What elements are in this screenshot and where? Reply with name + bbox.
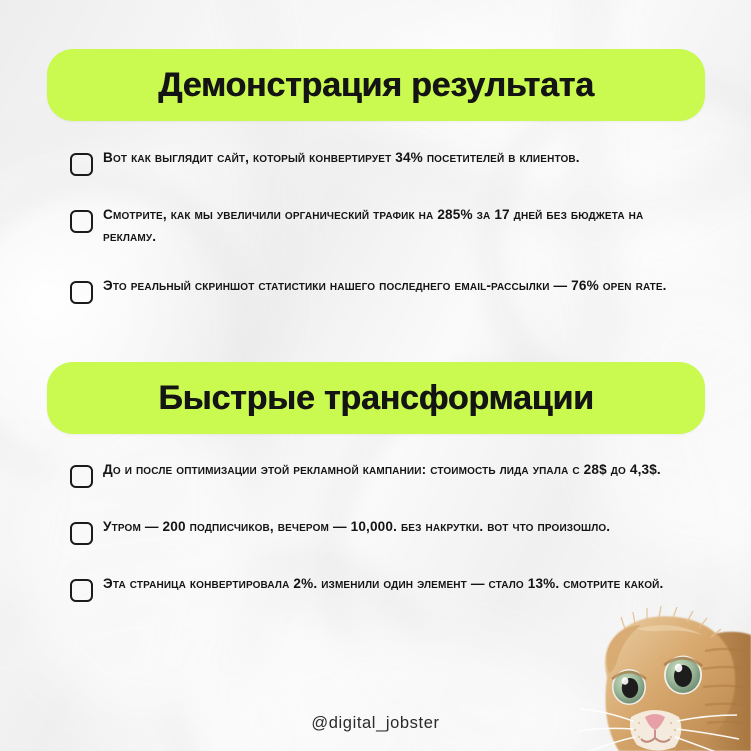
checkbox-icon[interactable]	[70, 579, 93, 602]
checkbox-icon[interactable]	[70, 522, 93, 545]
section-header-title: Демонстрация результата	[158, 68, 594, 102]
list-item-label: Утром — 200 подписчиков, вечером — 10,00…	[103, 515, 700, 538]
account-handle[interactable]: @digital_jobster	[0, 714, 751, 733]
list-item[interactable]: Эта страница конвертировала 2%. Изменили…	[70, 572, 700, 602]
checkbox-icon[interactable]	[70, 465, 93, 488]
list-item-label: Смотрите, как мы увеличили органический …	[103, 203, 700, 247]
checklist-demonstration: Вот как выглядит сайт, который конвертир…	[70, 146, 700, 304]
checkbox-icon[interactable]	[70, 210, 93, 233]
list-item[interactable]: Смотрите, как мы увеличили органический …	[70, 203, 700, 247]
checkbox-icon[interactable]	[70, 281, 93, 304]
list-item[interactable]: Это реальный скриншот статистики нашего …	[70, 274, 700, 304]
checklist-fast-transformations: До и после оптимизации этой рекламной ка…	[70, 458, 700, 602]
list-item-label: Это реальный скриншот статистики нашего …	[103, 274, 700, 297]
list-item[interactable]: Вот как выглядит сайт, который конвертир…	[70, 146, 700, 176]
list-item[interactable]: Утром — 200 подписчиков, вечером — 10,00…	[70, 515, 700, 545]
checkbox-icon[interactable]	[70, 153, 93, 176]
list-item[interactable]: До и после оптимизации этой рекламной ка…	[70, 458, 700, 488]
section-header-title: Быстрые трансформации	[158, 381, 593, 415]
section-header-pill-demonstration: Демонстрация результата	[47, 49, 705, 121]
list-item-label: До и после оптимизации этой рекламной ка…	[103, 458, 700, 481]
list-item-label: Вот как выглядит сайт, который конвертир…	[103, 146, 700, 169]
poster-canvas: Демонстрация результата Вот как выглядит…	[0, 0, 751, 751]
list-item-label: Эта страница конвертировала 2%. Изменили…	[103, 572, 700, 595]
section-header-pill-fast-transformations: Быстрые трансформации	[47, 362, 705, 434]
